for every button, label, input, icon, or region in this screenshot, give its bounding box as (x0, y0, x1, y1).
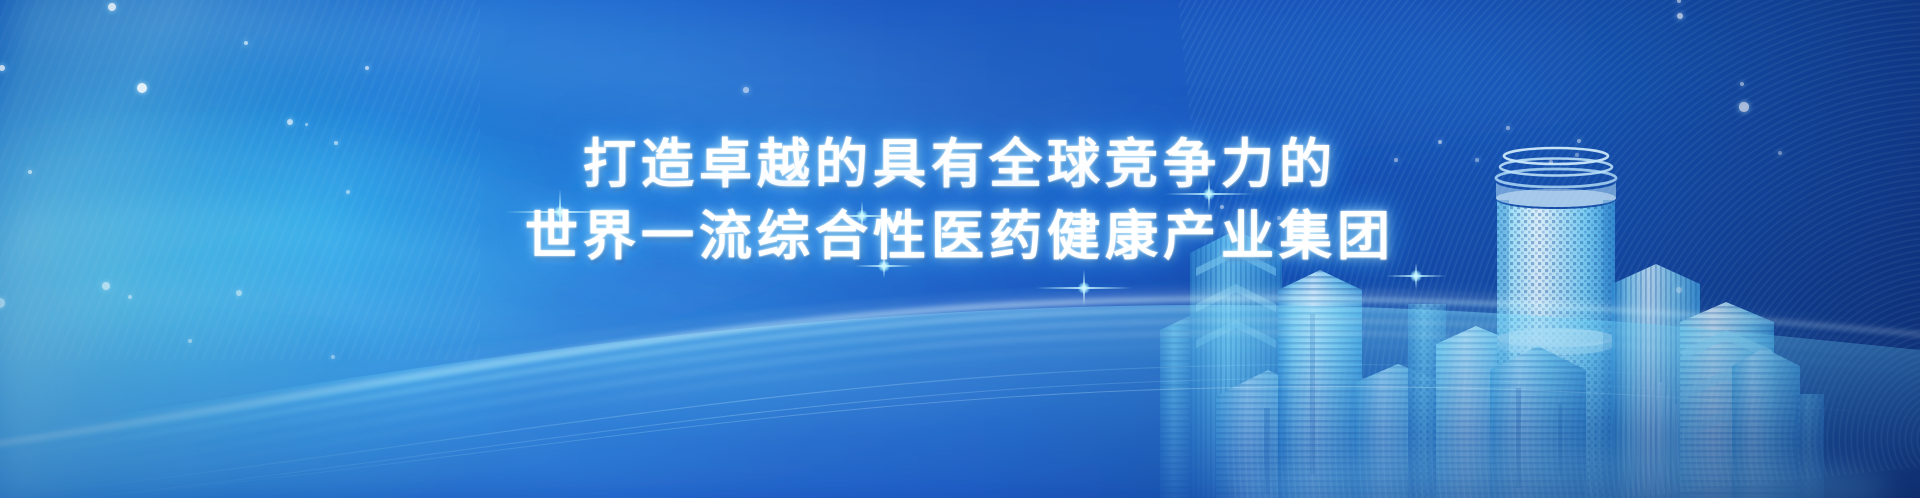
hero-banner: 打造卓越的具有全球竞争力的 世界一流综合性医药健康产业集团 (0, 0, 1920, 498)
sparkle-core (1203, 188, 1215, 200)
sparkle-core (554, 206, 566, 218)
sparkle-core (856, 210, 868, 222)
sparkle-core (878, 260, 890, 272)
lens-flare-sparkles (0, 0, 1920, 498)
sparkle-core (1410, 270, 1422, 282)
sparkle-core (1078, 282, 1090, 294)
